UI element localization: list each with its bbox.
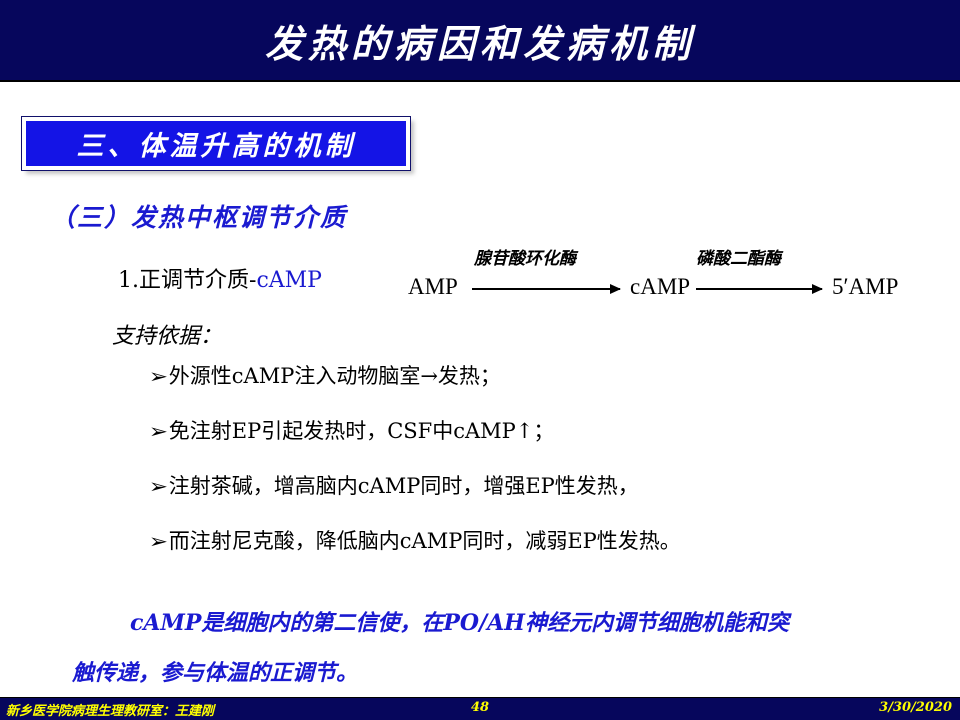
footer-page-number: 48 [0, 700, 960, 715]
summary-line-2: 触传递，参与体温的正调节。 [72, 648, 932, 698]
enzyme-label-adenylate-cyclase: 腺苷酸环化酶 [474, 244, 576, 269]
triangle-bullet-icon: ➢ [149, 362, 168, 390]
summary-line-1: cAMP是细胞内的第二信使，在PO/AH神经元内调节细胞机能和突 [72, 598, 932, 648]
item-one-line: 1.正调节介质-cAMP [118, 262, 322, 294]
list-item: ➢ 外源性cAMP注入动物脑室→发热； [150, 362, 930, 417]
species-5-amp: 5′AMP [832, 274, 898, 300]
triangle-bullet-icon: ➢ [149, 527, 168, 555]
species-amp: AMP [408, 274, 458, 300]
list-item-label: 外源性cAMP注入动物脑室→发热； [169, 362, 501, 390]
enzyme-label-phosphodiesterase: 磷酸二酯酶 [696, 244, 781, 269]
summary-paragraph: cAMP是细胞内的第二信使，在PO/AH神经元内调节细胞机能和突 触传递，参与体… [72, 598, 932, 698]
triangle-bullet-icon: ➢ [149, 472, 168, 500]
species-camp: cAMP [630, 274, 690, 300]
support-evidence-label: 支持依据： [112, 318, 222, 350]
list-item: ➢ 免注射EP引起发热时，CSF中cAMP↑； [150, 417, 930, 472]
item-one-accent-camp: cAMP [256, 268, 322, 293]
footer-date: 3/30/2020 [879, 700, 952, 715]
list-item-label: 注射茶碱，增高脑内cAMP同时，增强EP性发热， [169, 472, 639, 500]
evidence-bullet-list: ➢ 外源性cAMP注入动物脑室→发热； ➢ 免注射EP引起发热时，CSF中cAM… [150, 362, 930, 582]
list-item-label: 而注射尼克酸，降低脑内cAMP同时，减弱EP性发热。 [169, 527, 681, 555]
item-one-prefix: 1.正调节介质- [118, 268, 256, 293]
reaction-arrow-icon-1 [472, 288, 620, 290]
slide-title-banner: 发热的病因和发病机制 [0, 0, 960, 82]
page-title: 发热的病因和发病机制 [265, 13, 695, 68]
slide-footer: 新乡医学院病理生理教研室：王建刚 48 3/30/2020 [0, 697, 960, 720]
reaction-arrow-icon-2 [696, 288, 822, 290]
triangle-bullet-icon: ➢ [149, 417, 168, 445]
section-heading-label: 三、体温升高的机制 [77, 124, 356, 163]
list-item: ➢ 注射茶碱，增高脑内cAMP同时，增强EP性发热， [150, 472, 930, 527]
reaction-scheme: 腺苷酸环化酶 磷酸二酯酶 AMP cAMP 5′AMP [408, 244, 948, 300]
section-heading-box: 三、体温升高的机制 [22, 117, 410, 170]
list-item: ➢ 而注射尼克酸，降低脑内cAMP同时，减弱EP性发热。 [150, 527, 930, 582]
list-item-label: 免注射EP引起发热时，CSF中cAMP↑； [169, 417, 555, 445]
subsection-title: （三）发热中枢调节介质 [50, 198, 347, 234]
